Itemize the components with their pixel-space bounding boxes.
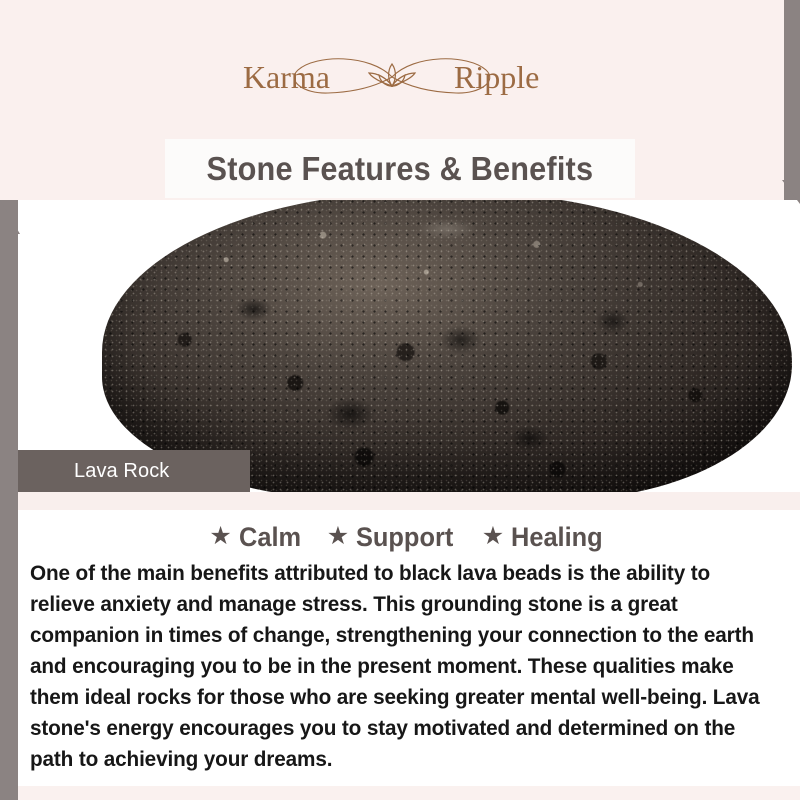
rock-shape <box>102 200 792 492</box>
lava-rock-photo <box>18 200 800 492</box>
divider-strip <box>18 492 800 510</box>
photo-caption-label: Lava Rock <box>18 460 169 483</box>
star-icon: ★ <box>209 524 231 549</box>
page-title: Stone Features & Benefits <box>207 150 594 188</box>
infographic-card: Karma Ripple Stone Features & Benefits L… <box>0 0 800 800</box>
benefit-item-support: ★ Support <box>327 522 460 553</box>
star-icon: ★ <box>327 524 349 549</box>
benefit-item-healing: ★ Healing <box>482 522 609 553</box>
bottom-strip <box>18 786 800 800</box>
benefit-label: Support <box>356 522 453 553</box>
brand-logo: Karma Ripple <box>0 42 784 112</box>
benefit-label: Healing <box>511 522 603 553</box>
benefit-label: Calm <box>239 522 301 553</box>
section-title-band: Stone Features & Benefits <box>165 139 635 198</box>
benefits-row: ★ Calm ★ Support ★ Healing <box>18 518 800 556</box>
benefit-item-calm: ★ Calm <box>209 522 304 553</box>
corner-notch-left <box>0 200 20 234</box>
brand-name-right: Ripple <box>454 59 539 95</box>
star-icon: ★ <box>482 524 504 549</box>
brand-name-left: Karma <box>243 59 330 95</box>
photo-inner <box>18 200 800 492</box>
body-paragraph: One of the main benefits attributed to b… <box>30 558 763 775</box>
photo-caption-band: Lava Rock <box>18 450 250 492</box>
lotus-infinity-logo-icon: Karma Ripple <box>242 46 542 108</box>
